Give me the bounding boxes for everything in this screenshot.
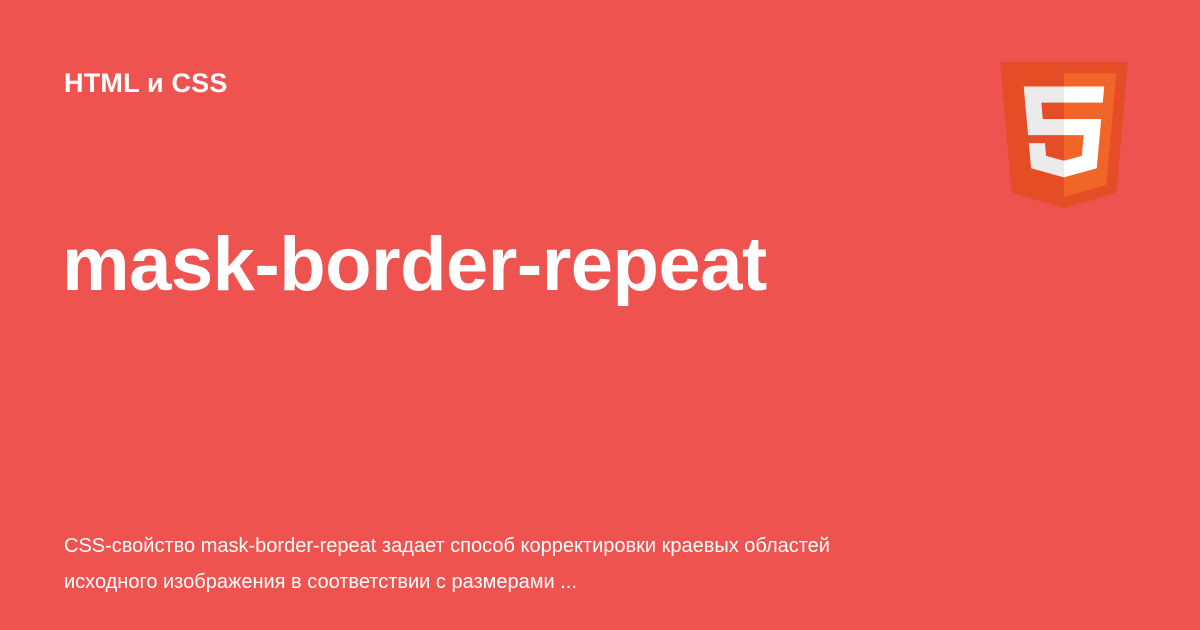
page-description: CSS-свойство mask-border-repeat задает с… (64, 528, 904, 600)
page-title: mask-border-repeat (62, 219, 1122, 311)
html5-shield-logo (1000, 62, 1128, 208)
social-preview-card: HTML и CSS mask-border-repeat CSS-свойст… (0, 0, 1200, 630)
category-kicker: HTML и CSS (64, 66, 228, 100)
